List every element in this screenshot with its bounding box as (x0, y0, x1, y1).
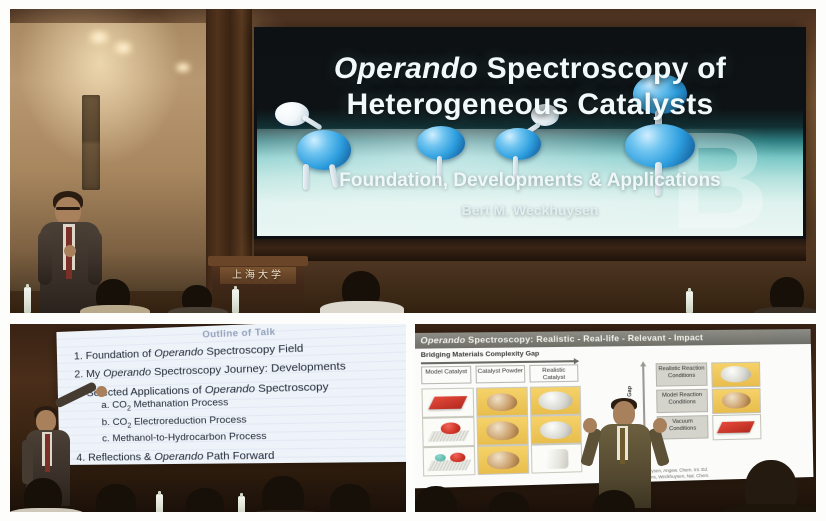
outline-subitem-b-post: Electroreduction Process (131, 414, 247, 428)
outline-item-4: 4. Reflections & Operando Path Forward (76, 446, 406, 465)
outline-item-1-pre: Foundation of (85, 348, 154, 363)
outline-item-1-num: 1. (74, 350, 83, 362)
complexity-slide-title: Operando Spectroscopy: Realistic - Real-… (415, 329, 811, 349)
outline-subitem-b-pre: CO (112, 416, 127, 427)
outline-subitem-a-letter: a. (101, 400, 109, 411)
ceiling-light-icon (173, 63, 193, 72)
outline-item-4-pre: Reflections & (88, 451, 155, 464)
bottom-right-panel-complexity: Operando Spectroscopy: Realistic - Real-… (415, 324, 816, 512)
projection-screen-outline: Outline of Talk 1. Foundation of Operand… (56, 324, 406, 465)
top-panel-lecture-wide: B (10, 9, 816, 313)
complexity-title-rest: Spectroscopy: Realistic - Real-life - Re… (465, 332, 703, 345)
column-header-catalyst-powder: Catalyst Powder (475, 365, 525, 383)
photo-collage: B (0, 0, 826, 521)
outline-item-3-post: Spectroscopy (255, 380, 329, 395)
wall-niche-decor (82, 95, 100, 190)
bottom-left-panel-outline: Outline of Talk 1. Foundation of Operand… (10, 324, 406, 512)
outline-subitem-c-pre: Methanol-to-Hydrocarbon Process (112, 431, 266, 445)
outline-subitem-a-post: Methanation Process (131, 397, 229, 411)
condition-thumb (712, 414, 761, 440)
outline-item-4-post: Path Forward (203, 449, 274, 462)
outline-item-2-num: 2. (74, 369, 83, 381)
condition-thumb (711, 362, 760, 388)
materials-gap-label: Bridging Materials Complexity Gap (421, 350, 540, 359)
outline-item-2-pre: My (86, 368, 103, 381)
complexity-title-operando-em: Operando (420, 335, 465, 346)
grid-cell (422, 417, 475, 447)
grid-cell (530, 386, 582, 416)
slide-title-line-1: Operando Spectroscopy of (257, 52, 803, 86)
outline-item-4-em: Operando (154, 450, 203, 463)
slide-title-line-2: Heterogeneous Catalysts (257, 88, 803, 122)
slide-author: Bert M. Weckhuysen (257, 202, 803, 218)
grid-cell (476, 387, 528, 417)
outline-item-3-em: Operando (205, 382, 255, 396)
slide-subtitle: Foundation, Developments & Applications (257, 170, 803, 192)
column-header-realistic-catalyst: Realistic Catalyst (529, 364, 578, 382)
audience-row-top (10, 265, 816, 313)
outline-subitem-b-letter: b. (102, 417, 110, 428)
grid-cell (530, 415, 582, 445)
stage-back-rail (254, 239, 806, 261)
outline-item-2-em: Operando (103, 366, 151, 380)
outline-item-1-post: Spectroscopy Field (203, 342, 303, 358)
condition-row: Vacuum Conditions (657, 414, 760, 440)
slide-title-operando-em: Operando (334, 52, 478, 85)
condition-row: Realistic Reaction Conditions (656, 362, 759, 387)
grid-cell (476, 416, 528, 446)
ceiling-light-icon (110, 42, 136, 54)
column-header-model-catalyst: Model Catalyst (421, 366, 472, 385)
slide-title-line-1-rest: Spectroscopy of (478, 52, 726, 85)
condition-thumb (712, 388, 761, 414)
outline-subitem-a-pre: CO (112, 400, 127, 411)
ceiling-light-icon (85, 31, 113, 44)
outline-list: 1. Foundation of Operando Spectroscopy F… (74, 337, 406, 465)
audience-row-bottom-right (415, 464, 816, 512)
outline-subitem-c-letter: c. (102, 433, 110, 444)
materials-gap-arrow-icon (421, 360, 578, 364)
projection-screen-title: B (254, 27, 806, 239)
condition-row: Model Reaction Conditions (656, 388, 759, 413)
condition-label-realistic: Realistic Reaction Conditions (656, 362, 708, 386)
materials-complexity-grid: Model Catalyst (421, 364, 582, 366)
reactor-conditions-group: Bridging Reactor Conditions Gap Realisti… (629, 360, 762, 362)
outline-item-1-em: Operando (154, 346, 203, 360)
grid-cell (421, 388, 474, 418)
audience-row-bottom-left (10, 464, 406, 512)
